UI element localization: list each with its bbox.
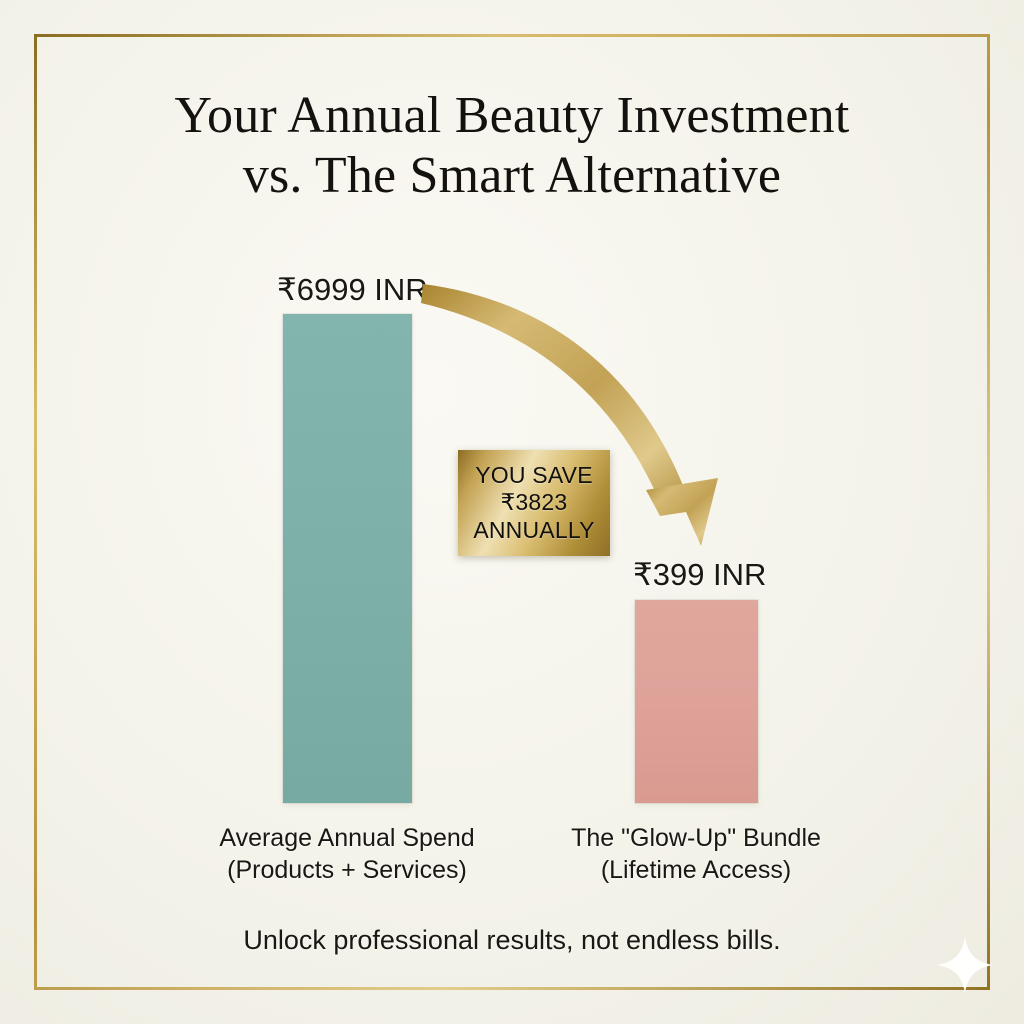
poster-canvas: Your Annual Beauty Investment vs. The Sm… [0,0,1024,1024]
bar-category-label-glow-up-bundle: The "Glow-Up" Bundle (Lifetime Access) [496,822,896,886]
category-1-line-1: Average Annual Spend [219,824,474,852]
savings-badge-line-2: ₹3823 [501,489,568,516]
sparkle-icon [934,934,996,996]
category-1-line-2: (Products + Services) [147,854,547,886]
savings-badge-line-1: YOU SAVE [475,462,593,489]
bar-category-label-average-annual-spend: Average Annual Spend (Products + Service… [147,822,547,886]
bar-glow-up-bundle [635,600,758,803]
tagline: Unlock professional results, not endless… [90,925,934,956]
bar-value-label-glow-up-bundle: ₹399 INR [633,557,766,593]
category-2-line-1: The "Glow-Up" Bundle [571,824,821,852]
category-2-line-2: (Lifetime Access) [496,854,896,886]
bar-value-label-average-annual-spend: ₹6999 INR [277,272,428,308]
bar-average-annual-spend [283,314,412,803]
savings-badge: YOU SAVE ₹3823 ANNUALLY [458,450,610,556]
savings-badge-line-3: ANNUALLY [473,517,594,544]
bar-chart: ₹6999 INR ₹399 INR Average Annual Spend … [0,0,1024,1024]
